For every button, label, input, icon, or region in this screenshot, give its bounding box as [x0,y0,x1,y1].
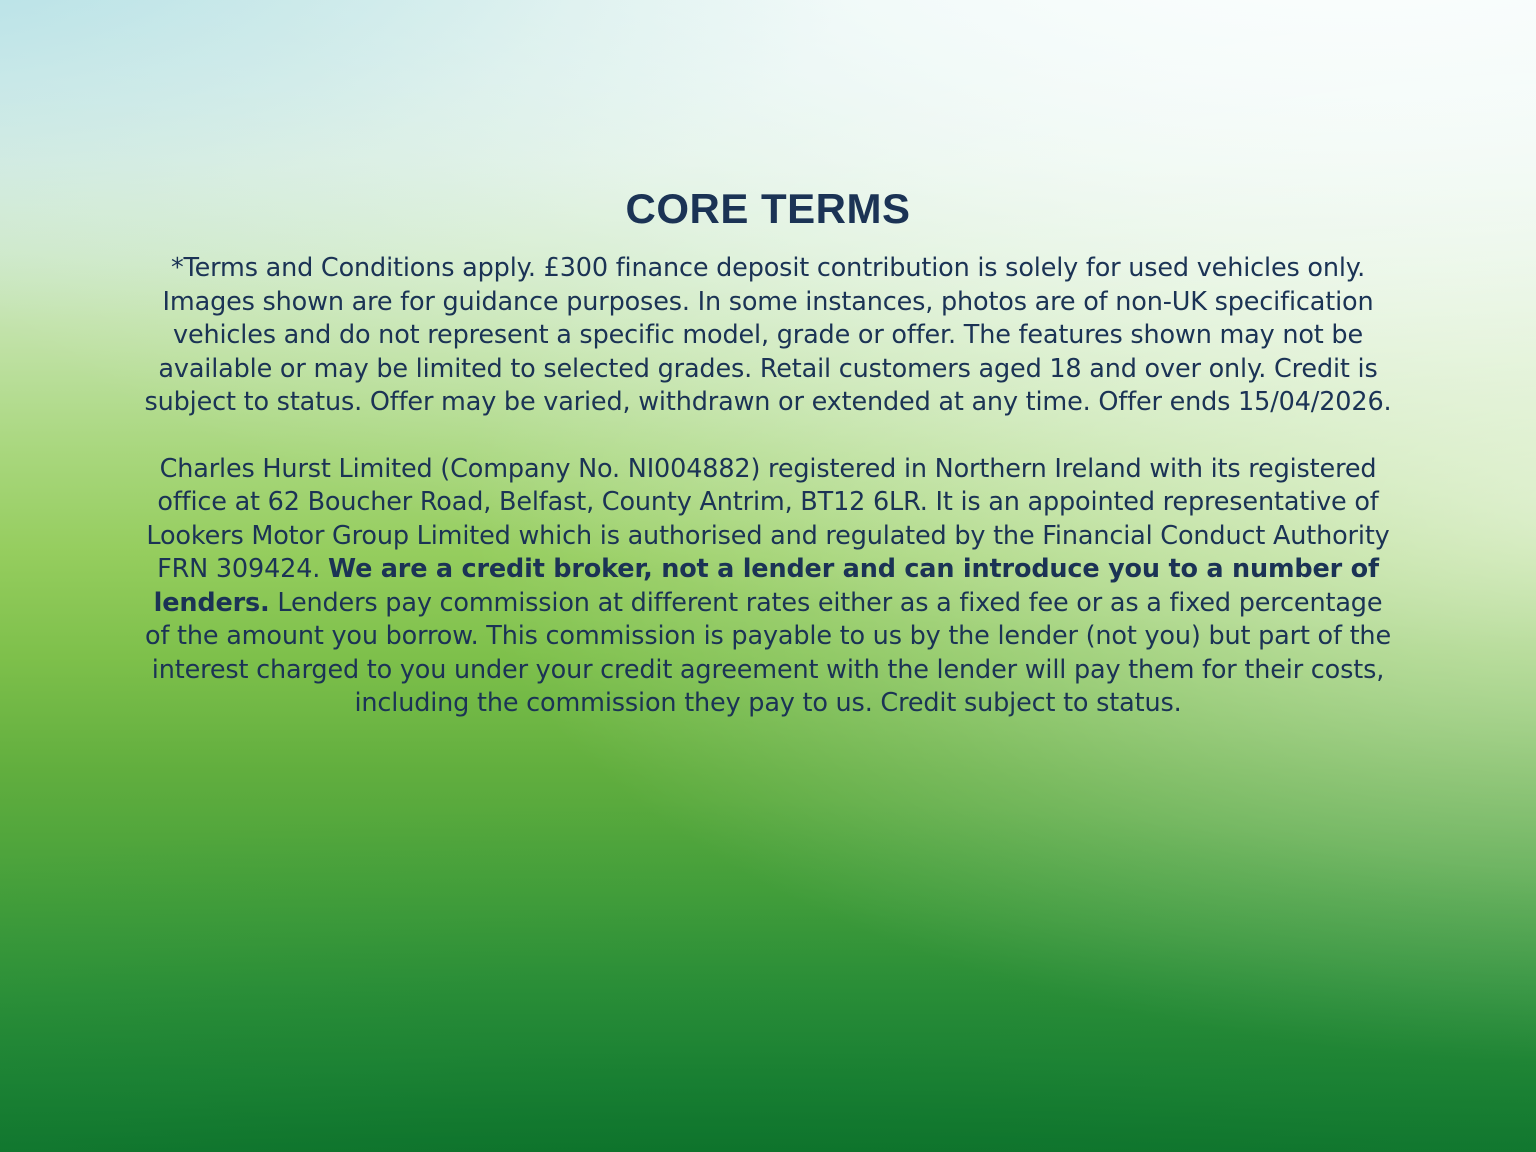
body-text: Lenders pay commission at different rate… [145,588,1391,719]
terms-paragraph-company-and-broker-disclosure: Charles Hurst Limited (Company No. NI004… [143,453,1393,721]
terms-paragraph-terms-and-conditions: *Terms and Conditions apply. £300 financ… [143,252,1393,420]
slide-content: CORE TERMS *Terms and Conditions apply. … [0,0,1536,1152]
terms-body: *Terms and Conditions apply. £300 financ… [143,252,1393,721]
page-title: CORE TERMS [0,188,1536,230]
body-text: *Terms and Conditions apply. £300 financ… [145,253,1392,417]
